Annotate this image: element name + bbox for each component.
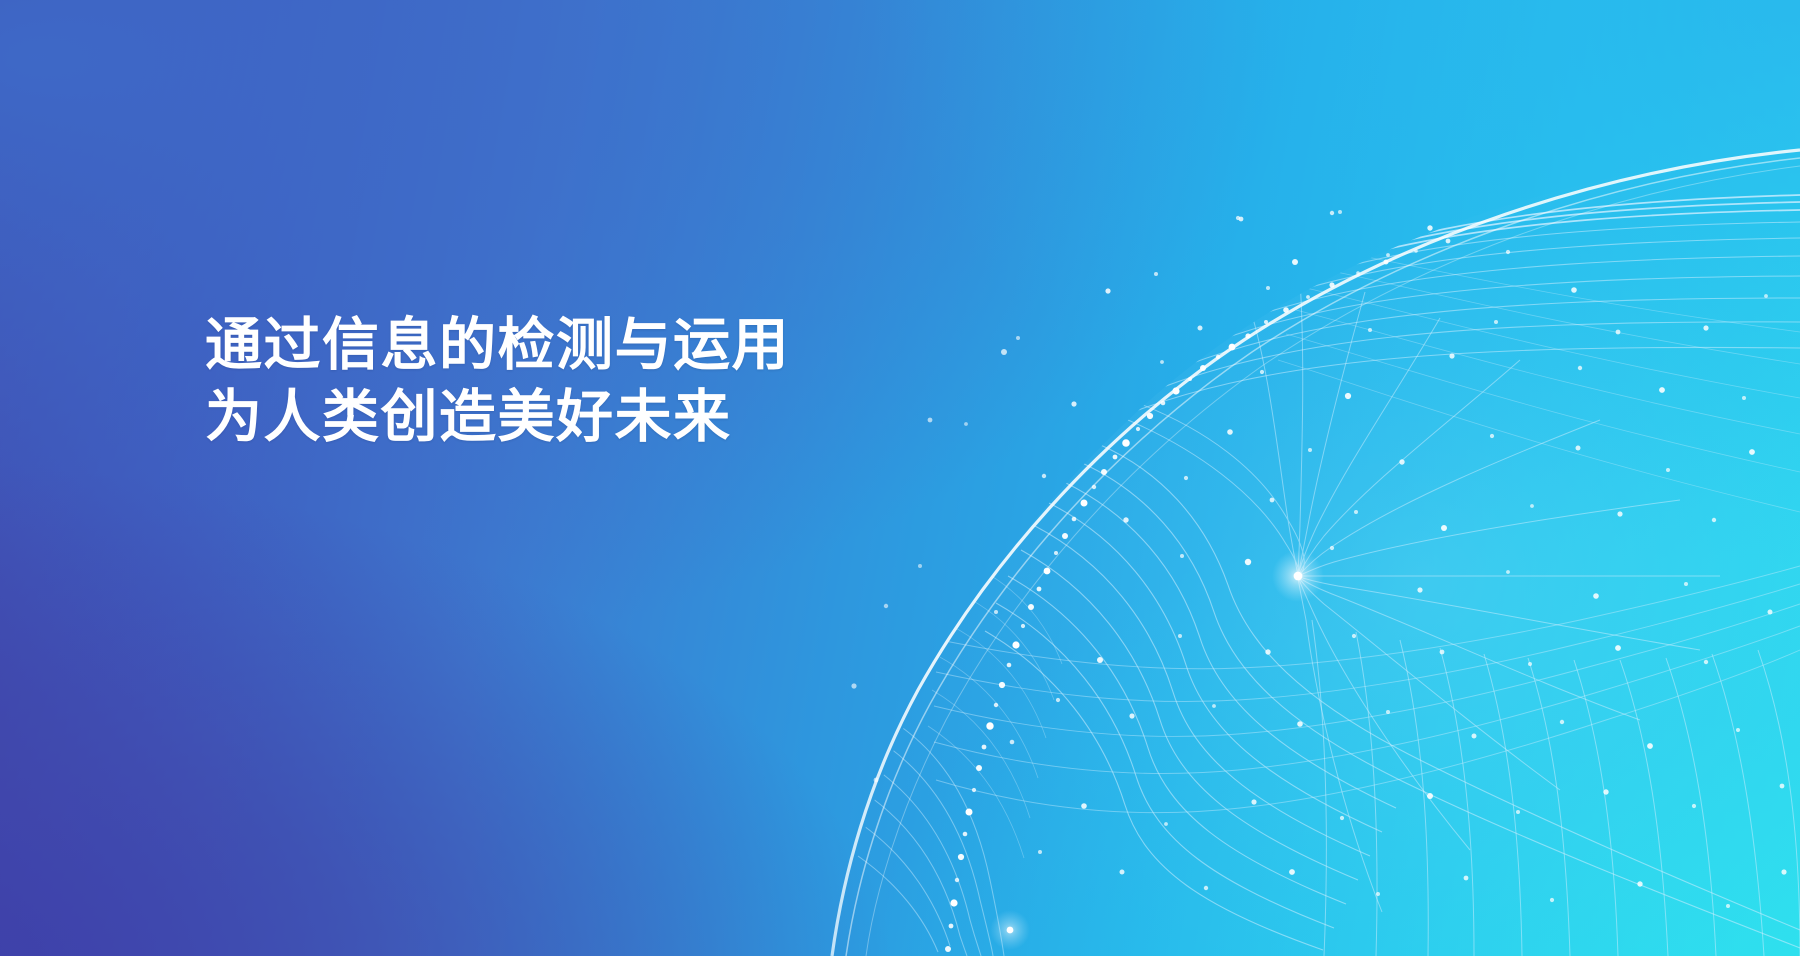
headline-line-1: 通过信息的检测与运用 (205, 309, 965, 381)
headline-line-2: 为人类创造美好未来 (205, 381, 965, 453)
globe-network-illustration (0, 0, 1800, 956)
headline-block: 通过信息的检测与运用 为人类创造美好未来 (205, 309, 965, 453)
globe-network-svg (0, 0, 1800, 956)
network-secondary-node (990, 910, 1030, 950)
hero-banner: 通过信息的检测与运用 为人类创造美好未来 (0, 0, 1800, 956)
network-convergence-node (1272, 550, 1324, 602)
